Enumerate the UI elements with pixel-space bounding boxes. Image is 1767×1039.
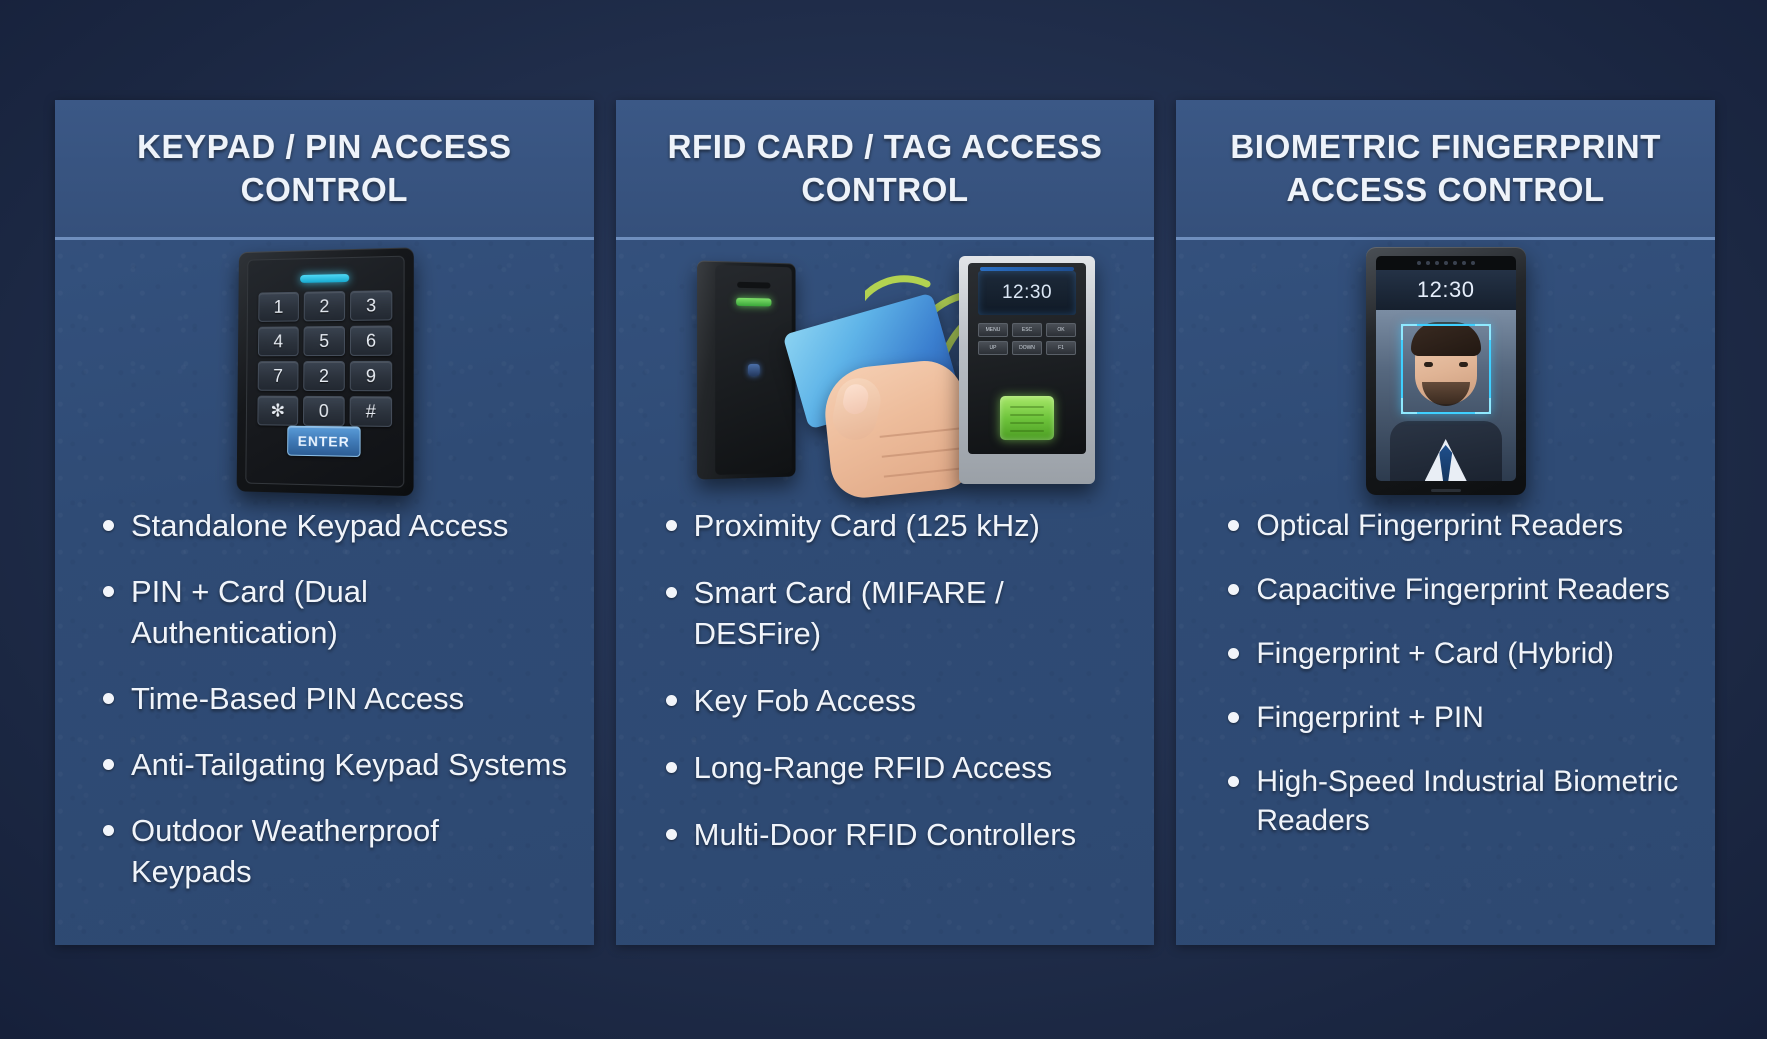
list-item: Optical Fingerprint Readers	[1220, 506, 1689, 545]
card-header: BIOMETRIC FINGERPRINT ACCESS CONTROL	[1176, 100, 1715, 240]
keypad-key[interactable]: 2	[304, 361, 346, 391]
reader-panel	[715, 265, 792, 475]
keypad-key[interactable]: 0	[303, 396, 345, 426]
home-indicator	[1431, 489, 1461, 492]
terminal-clock-display: 12:30	[978, 271, 1076, 315]
cards-grid: KEYPAD / PIN ACCESS CONTROL 1 2 3 4	[55, 100, 1715, 945]
list-item: Capacitive Fingerprint Readers	[1220, 570, 1689, 609]
keypad-face: 1 2 3 4 5 6 7 2 9 ✻ 0 #	[246, 256, 405, 488]
list-item: Anti-Tailgating Keypad Systems	[95, 745, 568, 785]
card-body: 1 2 3 4 5 6 7 2 9 ✻ 0 #	[55, 240, 594, 945]
list-item: Proximity Card (125 kHz)	[658, 506, 1129, 546]
status-led-icon	[300, 274, 349, 283]
card-header: KEYPAD / PIN ACCESS CONTROL	[55, 100, 594, 240]
keypad-key[interactable]: 6	[350, 325, 392, 355]
keypad-device-icon: 1 2 3 4 5 6 7 2 9 ✻ 0 #	[237, 247, 414, 496]
card-header: RFID CARD / TAG ACCESS CONTROL	[616, 100, 1155, 240]
hand-holding-card	[821, 357, 974, 501]
keypad-key[interactable]: 1	[259, 292, 300, 322]
terminal-button[interactable]: OK	[1046, 323, 1076, 337]
biometric-tablet-icon: 12:30	[1366, 247, 1526, 495]
keypad-key-asterisk[interactable]: ✻	[258, 396, 299, 426]
rfid-device-figure: 12:30 MENU ESC OK UP DOWN F1	[616, 246, 1155, 496]
list-item: Time-Based PIN Access	[95, 679, 568, 719]
sensor-array-icon	[1411, 260, 1481, 266]
list-item: Fingerprint + PIN	[1220, 698, 1689, 737]
card-title: RFID CARD / TAG ACCESS CONTROL	[616, 126, 1155, 210]
terminal-button[interactable]: ESC	[1012, 323, 1042, 337]
feature-list: Optical Fingerprint Readers Capacitive F…	[1176, 496, 1715, 865]
finger-line	[882, 447, 962, 457]
terminal-button[interactable]: DOWN	[1012, 341, 1042, 355]
finger-line	[884, 467, 964, 477]
terminal-button[interactable]: MENU	[978, 323, 1008, 337]
tablet-bezel: 12:30	[1376, 256, 1516, 481]
rfid-scene: 12:30 MENU ESC OK UP DOWN F1	[675, 246, 1095, 496]
rfid-reader-icon	[697, 260, 796, 479]
list-item: Long-Range RFID Access	[658, 748, 1129, 788]
face-detection-box-icon	[1401, 324, 1491, 414]
reader-slot	[737, 282, 770, 289]
fingerprint-terminal-icon: 12:30 MENU ESC OK UP DOWN F1	[959, 256, 1095, 484]
keypad-key-hash[interactable]: #	[350, 396, 393, 427]
keypad-key[interactable]: 7	[258, 361, 299, 391]
keypad-keys: 1 2 3 4 5 6 7 2 9 ✻ 0 #	[258, 290, 393, 427]
enter-button[interactable]: ENTER	[287, 426, 361, 457]
keypad-key[interactable]: 2	[304, 291, 346, 321]
list-item: Outdoor Weatherproof Keypads	[95, 811, 568, 892]
keypad-device-figure: 1 2 3 4 5 6 7 2 9 ✻ 0 #	[55, 246, 594, 496]
slide-root: KEYPAD / PIN ACCESS CONTROL 1 2 3 4	[0, 0, 1767, 1039]
feature-list: Standalone Keypad Access PIN + Card (Dua…	[55, 496, 594, 918]
keypad-key[interactable]: 3	[350, 290, 392, 321]
feature-list: Proximity Card (125 kHz) Smart Card (MIF…	[616, 496, 1155, 883]
tablet-clock-display: 12:30	[1376, 270, 1516, 310]
list-item: Smart Card (MIFARE / DESFire)	[658, 573, 1129, 654]
fingerprint-sensor-icon[interactable]	[1000, 396, 1054, 440]
card-title: KEYPAD / PIN ACCESS CONTROL	[55, 126, 594, 210]
terminal-front: 12:30 MENU ESC OK UP DOWN F1	[968, 263, 1086, 454]
card-rfid-access-control: RFID CARD / TAG ACCESS CONTROL	[616, 100, 1155, 945]
list-item: PIN + Card (Dual Authentication)	[95, 572, 568, 653]
terminal-button-grid: MENU ESC OK UP DOWN F1	[978, 323, 1076, 355]
green-status-led-icon	[736, 298, 771, 307]
terminal-button[interactable]: UP	[978, 341, 1008, 355]
card-title: BIOMETRIC FINGERPRINT ACCESS CONTROL	[1176, 126, 1715, 210]
biometric-device-figure: 12:30	[1176, 246, 1715, 496]
keypad-key[interactable]: 4	[258, 326, 299, 356]
finger-line	[880, 427, 960, 437]
list-item: Standalone Keypad Access	[95, 506, 568, 546]
card-body: 12:30	[1176, 240, 1715, 945]
list-item: Multi-Door RFID Controllers	[658, 815, 1129, 855]
list-item: Key Fob Access	[658, 681, 1129, 721]
reader-indicator-icon	[748, 364, 760, 376]
person-body	[1390, 421, 1502, 481]
card-biometric-access-control: BIOMETRIC FINGERPRINT ACCESS CONTROL 12:…	[1176, 100, 1715, 945]
card-keypad-access-control: KEYPAD / PIN ACCESS CONTROL 1 2 3 4	[55, 100, 594, 945]
face-recognition-preview	[1376, 310, 1516, 481]
terminal-button[interactable]: F1	[1046, 341, 1076, 355]
keypad-key[interactable]: 5	[304, 326, 346, 356]
keypad-key[interactable]: 9	[350, 361, 392, 391]
card-body: 12:30 MENU ESC OK UP DOWN F1	[616, 240, 1155, 945]
list-item: Fingerprint + Card (Hybrid)	[1220, 634, 1689, 673]
list-item: High-Speed Industrial Biometric Readers	[1220, 762, 1689, 840]
